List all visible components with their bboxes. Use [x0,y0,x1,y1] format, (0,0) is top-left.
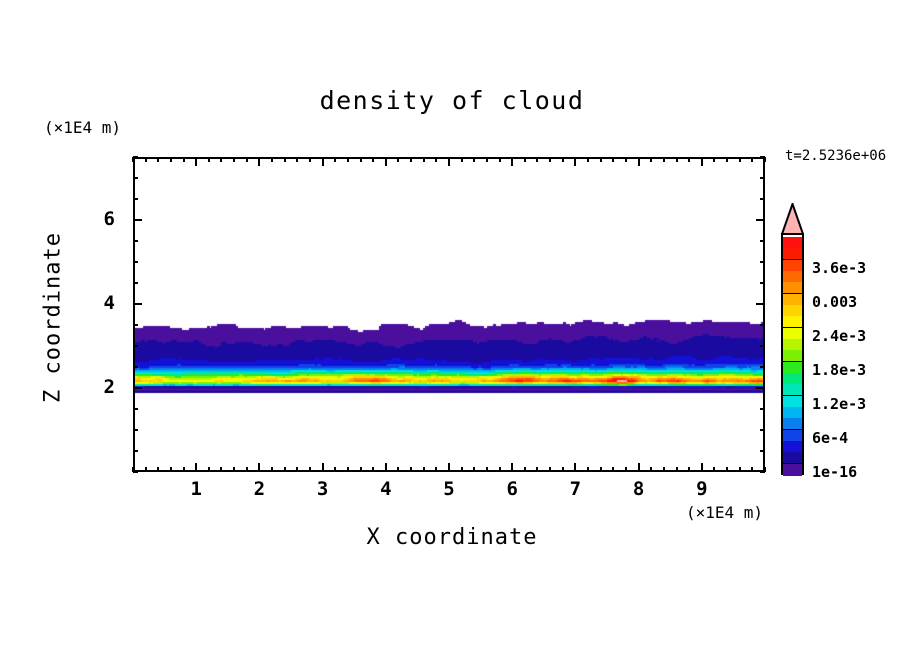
colorbar-tick-label: 0.003 [812,293,857,311]
x-tick-top [713,157,715,162]
y-tick-left [133,387,142,389]
x-tick-top [183,157,185,162]
x-tick-top [524,157,526,162]
x-tick-bottom [688,467,690,472]
x-tick-top [726,157,728,162]
x-tick-bottom [258,463,260,472]
x-tick-top [663,157,665,162]
x-tick-label: 3 [308,478,338,500]
x-tick-top [347,157,349,162]
y-tick-left [133,156,138,158]
x-tick-label: 4 [371,478,401,500]
colorbar-band [783,396,802,408]
y-tick-right [760,429,765,431]
x-tick-top [612,157,614,162]
colorbar-band [783,260,802,272]
x-tick-top [360,157,362,162]
y-tick-right [760,177,765,179]
x-tick-top [499,157,501,162]
y-tick-right [756,303,765,305]
y-tick-right [760,450,765,452]
x-tick-bottom [208,467,210,472]
y-tick-left [133,261,138,263]
y-tick-left [133,219,142,221]
x-tick-label: 2 [244,478,274,500]
y-tick-left [133,198,138,200]
x-tick-bottom [397,467,399,472]
x-tick-bottom [713,467,715,472]
figure-canvas: density of cloud (×1E4 m) (×1E4 m) t=2.5… [0,0,904,654]
x-tick-bottom [284,467,286,472]
x-tick-bottom [524,467,526,472]
x-tick-top [600,157,602,162]
y-tick-left [133,366,138,368]
colorbar-tick-label: 1e-16 [812,463,857,481]
x-tick-top [511,157,513,166]
x-tick-bottom [663,467,665,472]
colorbar-band [783,430,802,442]
y-axis-unit-label: (×1E4 m) [44,118,121,137]
x-tick-bottom [423,467,425,472]
x-tick-bottom [410,467,412,472]
x-tick-bottom [448,463,450,472]
colorbar-band [783,316,802,328]
x-tick-top [372,157,374,162]
x-tick-bottom [562,467,564,472]
x-tick-bottom [486,467,488,472]
x-tick-top [246,157,248,162]
colorbar-band [783,339,802,351]
x-tick-top [448,157,450,166]
x-tick-top [397,157,399,162]
x-tick-top [423,157,425,162]
colorbar-tick-label: 6e-4 [812,429,848,447]
x-tick-label: 1 [181,478,211,500]
x-tick-label: 5 [434,478,464,500]
x-tick-bottom [638,463,640,472]
colorbar-band [783,441,802,453]
x-tick-top [625,157,627,162]
x-tick-bottom [334,467,336,472]
x-tick-bottom [233,467,235,472]
colorbar [781,233,804,475]
colorbar-band [783,305,802,317]
y-tick-right [760,366,765,368]
x-tick-top [562,157,564,162]
x-tick-bottom [726,467,728,472]
x-tick-bottom [246,467,248,472]
x-tick-top [435,157,437,162]
x-tick-bottom [435,467,437,472]
x-tick-top [170,157,172,162]
x-tick-top [536,157,538,162]
x-tick-top [145,157,147,162]
colorbar-band [783,328,802,340]
y-tick-label: 4 [85,292,115,314]
x-tick-top [284,157,286,162]
colorbar-band [783,373,802,385]
x-tick-top [334,157,336,162]
colorbar-arrow-icon [781,203,804,235]
x-tick-bottom [461,467,463,472]
x-tick-top [739,157,741,162]
colorbar-band [783,464,802,476]
y-tick-right [760,324,765,326]
colorbar-over-range-arrow [781,203,804,235]
colorbar-band [783,237,802,249]
y-tick-left [133,450,138,452]
y-tick-left [133,471,138,473]
x-tick-bottom [650,467,652,472]
chart-title: density of cloud [0,86,904,115]
x-tick-bottom [739,467,741,472]
x-tick-top [574,157,576,166]
x-tick-top [322,157,324,166]
x-tick-bottom [385,463,387,472]
colorbar-band [783,350,802,362]
x-tick-top [688,157,690,162]
x-tick-top [410,157,412,162]
x-tick-top [587,157,589,162]
y-tick-right [756,219,765,221]
x-tick-bottom [296,467,298,472]
colorbar-tick-label: 2.4e-3 [812,327,866,345]
contour-field [135,159,763,470]
x-tick-top [486,157,488,162]
y-tick-left [133,324,138,326]
colorbar-band [783,407,802,419]
y-tick-right [760,156,765,158]
y-tick-right [760,282,765,284]
x-tick-bottom [322,463,324,472]
x-tick-bottom [625,467,627,472]
x-tick-bottom [183,467,185,472]
colorbar-band [783,362,802,374]
y-tick-right [760,240,765,242]
x-tick-label: 7 [560,478,590,500]
y-tick-left [133,345,138,347]
x-tick-top [208,157,210,162]
y-tick-label: 2 [85,376,115,398]
colorbar-band [783,294,802,306]
y-tick-left [133,429,138,431]
x-tick-bottom [499,467,501,472]
timestamp-annotation: t=2.5236e+06 [785,148,886,164]
x-tick-bottom [701,463,703,472]
x-tick-top [220,157,222,162]
colorbar-tick-label: 3.6e-3 [812,259,866,277]
y-tick-right [760,198,765,200]
colorbar-band [783,384,802,396]
x-tick-bottom [347,467,349,472]
y-axis-title: Z coordinate [41,218,66,418]
colorbar-band [783,271,802,283]
x-tick-top [676,157,678,162]
colorbar-band [783,452,802,464]
x-tick-top [233,157,235,162]
x-tick-bottom [574,463,576,472]
x-tick-bottom [676,467,678,472]
x-tick-top [309,157,311,162]
x-tick-top [701,157,703,166]
x-tick-label: 8 [624,478,654,500]
y-tick-left [133,408,138,410]
y-tick-left [133,177,138,179]
colorbar-tick-label: 1.8e-3 [812,361,866,379]
y-tick-right [756,387,765,389]
x-tick-top [461,157,463,162]
x-tick-bottom [549,467,551,472]
y-tick-left [133,303,142,305]
plot-area [133,157,765,472]
x-tick-bottom [473,467,475,472]
y-tick-left [133,240,138,242]
x-tick-bottom [751,467,753,472]
x-tick-bottom [360,467,362,472]
x-tick-bottom [536,467,538,472]
x-tick-top [473,157,475,162]
x-tick-bottom [195,463,197,472]
x-axis-unit-label: (×1E4 m) [686,503,763,522]
x-tick-bottom [511,463,513,472]
x-tick-top [638,157,640,166]
x-tick-top [385,157,387,166]
x-tick-bottom [309,467,311,472]
colorbar-tick-label: 1.2e-3 [812,395,866,413]
x-axis-title: X coordinate [0,525,904,550]
x-tick-bottom [612,467,614,472]
x-tick-label: 6 [497,478,527,500]
y-tick-left [133,282,138,284]
x-tick-top [549,157,551,162]
x-tick-top [195,157,197,166]
x-tick-top [296,157,298,162]
y-tick-right [760,471,765,473]
colorbar-band [783,282,802,294]
y-tick-right [760,345,765,347]
colorbar-band [783,418,802,430]
x-tick-top [258,157,260,166]
x-tick-top [157,157,159,162]
x-tick-bottom [145,467,147,472]
x-tick-top [751,157,753,162]
x-tick-top [271,157,273,162]
x-tick-bottom [600,467,602,472]
x-tick-top [650,157,652,162]
y-tick-right [760,408,765,410]
x-tick-bottom [271,467,273,472]
x-tick-bottom [220,467,222,472]
y-tick-label: 6 [85,208,115,230]
x-tick-label: 9 [687,478,717,500]
x-tick-bottom [587,467,589,472]
x-tick-bottom [372,467,374,472]
x-tick-bottom [170,467,172,472]
colorbar-band [783,248,802,260]
contour-field-wrapper [135,159,763,470]
y-tick-right [760,261,765,263]
x-tick-bottom [157,467,159,472]
